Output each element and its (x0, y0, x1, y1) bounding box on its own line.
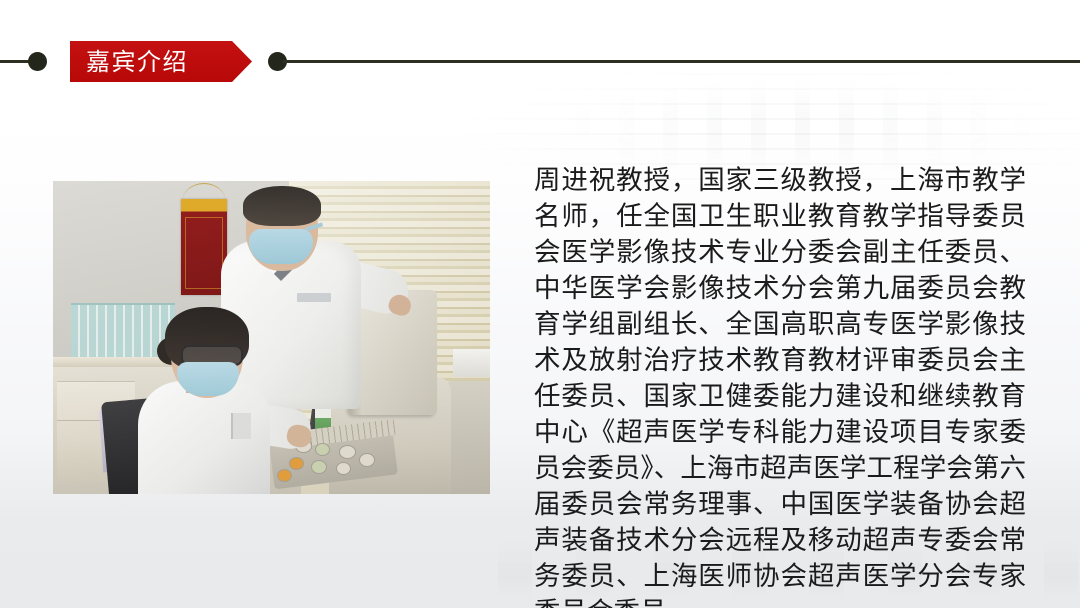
ultrasound-knob (359, 453, 375, 467)
ultrasound-knob (336, 462, 351, 475)
seated-doctor-badge (231, 413, 251, 439)
photo-scene (53, 181, 490, 494)
section-title-ribbon: 嘉宾介绍 (70, 41, 252, 82)
side-cart (445, 381, 490, 494)
guest-biography-text: 周进祝教授，国家三级教授，上海市教学名师，任全国卫生职业教育教学指导委员会医学影… (534, 163, 1026, 608)
ultrasound-knob (339, 445, 356, 459)
ultrasound-knob (315, 443, 330, 456)
side-cart-papers (453, 349, 490, 377)
header-dot-left-icon (28, 52, 47, 71)
slide-root: 嘉宾介绍 (0, 0, 1080, 608)
guest-photo (53, 181, 490, 494)
standing-doctor-face-mask (249, 229, 313, 264)
seated-doctor-face-mask (177, 362, 239, 396)
header-rule-right (283, 60, 1080, 63)
ultrasound-knob (277, 469, 292, 482)
background-watermark-texture-secondary (520, 80, 1080, 175)
standing-doctor-hair (243, 186, 321, 226)
standing-doctor-badge (297, 293, 331, 302)
section-title-label: 嘉宾介绍 (86, 50, 188, 74)
ultrasound-knob (311, 460, 327, 474)
ultrasound-knob (289, 457, 304, 470)
